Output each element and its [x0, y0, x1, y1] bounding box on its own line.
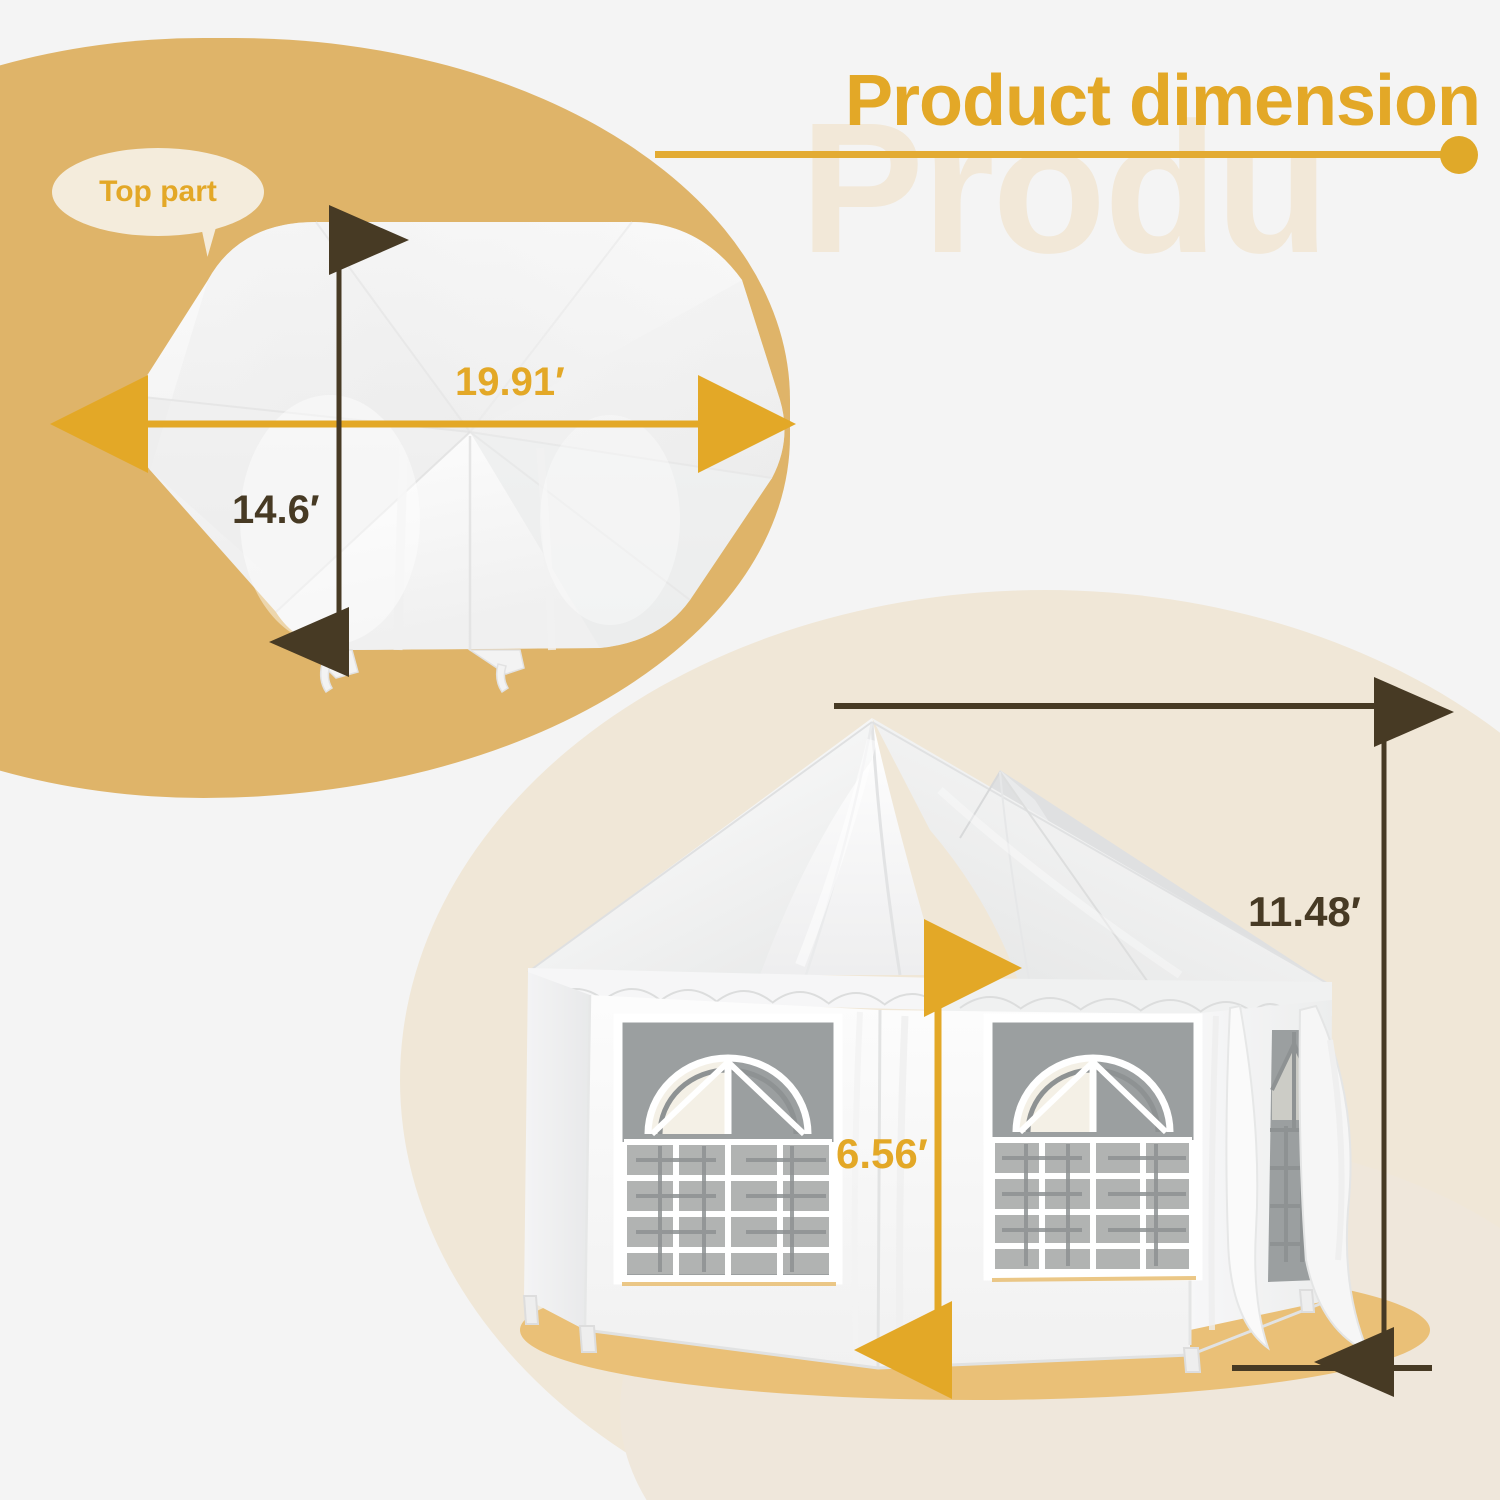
- wall-height-label: 6.56′: [836, 1130, 928, 1178]
- infographic-canvas: Produ Product dimension: [0, 0, 1500, 1500]
- depth-dimension-label: 14.6′: [232, 488, 319, 533]
- dimension-annotations: [0, 0, 1500, 1500]
- overall-height-label: 11.48′: [1248, 888, 1361, 936]
- width-dimension-label: 19.91′: [455, 360, 565, 405]
